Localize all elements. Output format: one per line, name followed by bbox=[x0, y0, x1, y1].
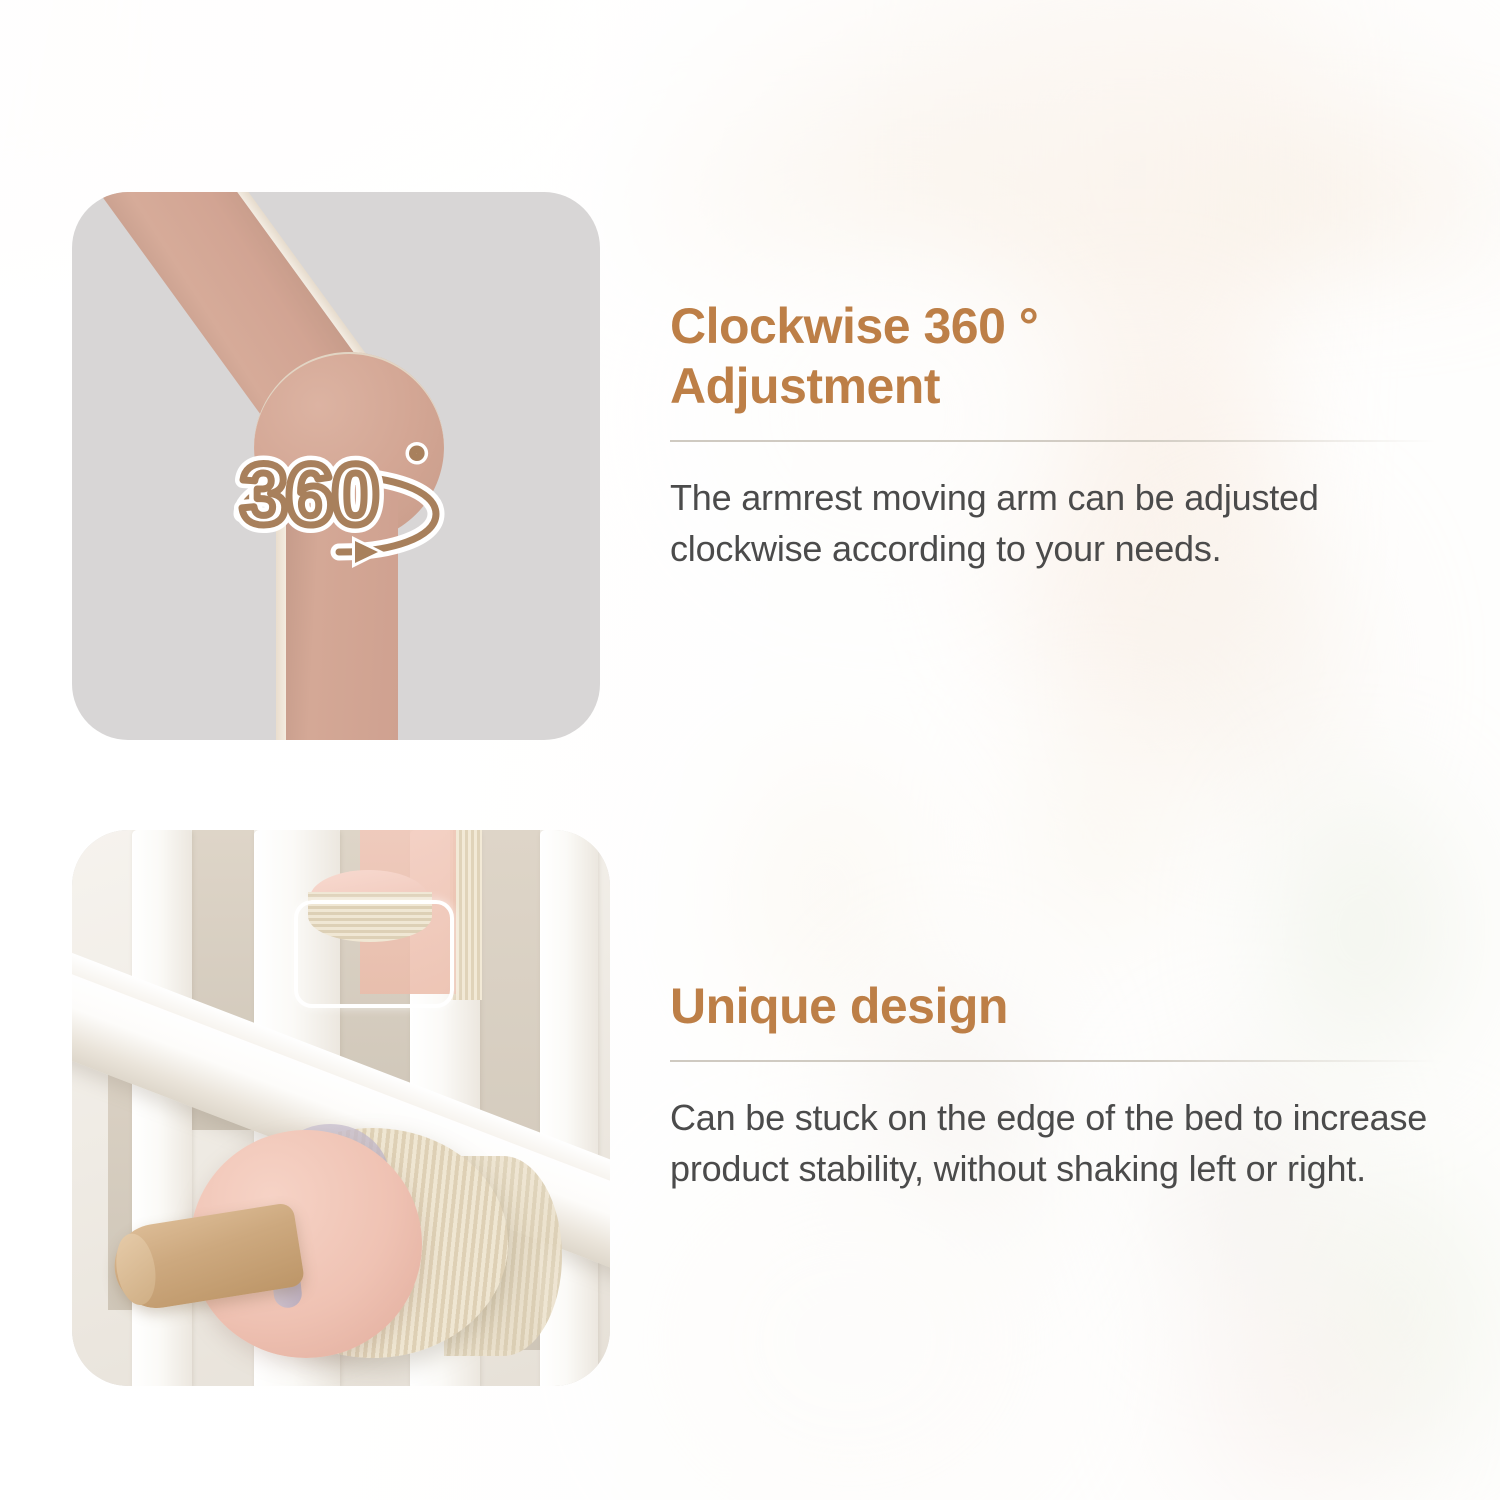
feature-description: Can be stuck on the edge of the bed to i… bbox=[670, 1092, 1436, 1194]
rotation-badge-degree: ° bbox=[410, 442, 424, 480]
feature-image-unique-design bbox=[72, 830, 610, 1386]
feature-image-clockwise-adjustment: 360 360 ° ° bbox=[72, 192, 600, 740]
background-top-glow bbox=[620, 0, 1500, 240]
feature-divider bbox=[670, 1060, 1436, 1062]
rotation-360-badge: 360 360 ° ° bbox=[224, 428, 454, 568]
feature-title: Clockwise 360 ° Adjustment bbox=[670, 296, 1436, 416]
detail-highlight-box bbox=[294, 900, 454, 1008]
background-blob-white bbox=[640, 1150, 1060, 1500]
infographic-page: 360 360 ° ° bbox=[0, 0, 1500, 1500]
feature-title: Unique design bbox=[670, 976, 1436, 1036]
feature-block-unique-design: Unique design Can be stuck on the edge o… bbox=[670, 976, 1436, 1194]
feature-block-clockwise-adjustment: Clockwise 360 ° Adjustment The armrest m… bbox=[670, 296, 1436, 574]
feature-description: The armrest moving arm can be adjusted c… bbox=[670, 472, 1436, 574]
background-upper-band bbox=[560, 140, 1500, 290]
background-blob-green bbox=[1300, 1160, 1500, 1460]
background-blob-pink bbox=[1180, 1280, 1400, 1500]
background-blob-cream bbox=[1020, 720, 1180, 950]
rotation-badge-value: 360 bbox=[240, 447, 378, 543]
feature-divider bbox=[670, 440, 1436, 442]
